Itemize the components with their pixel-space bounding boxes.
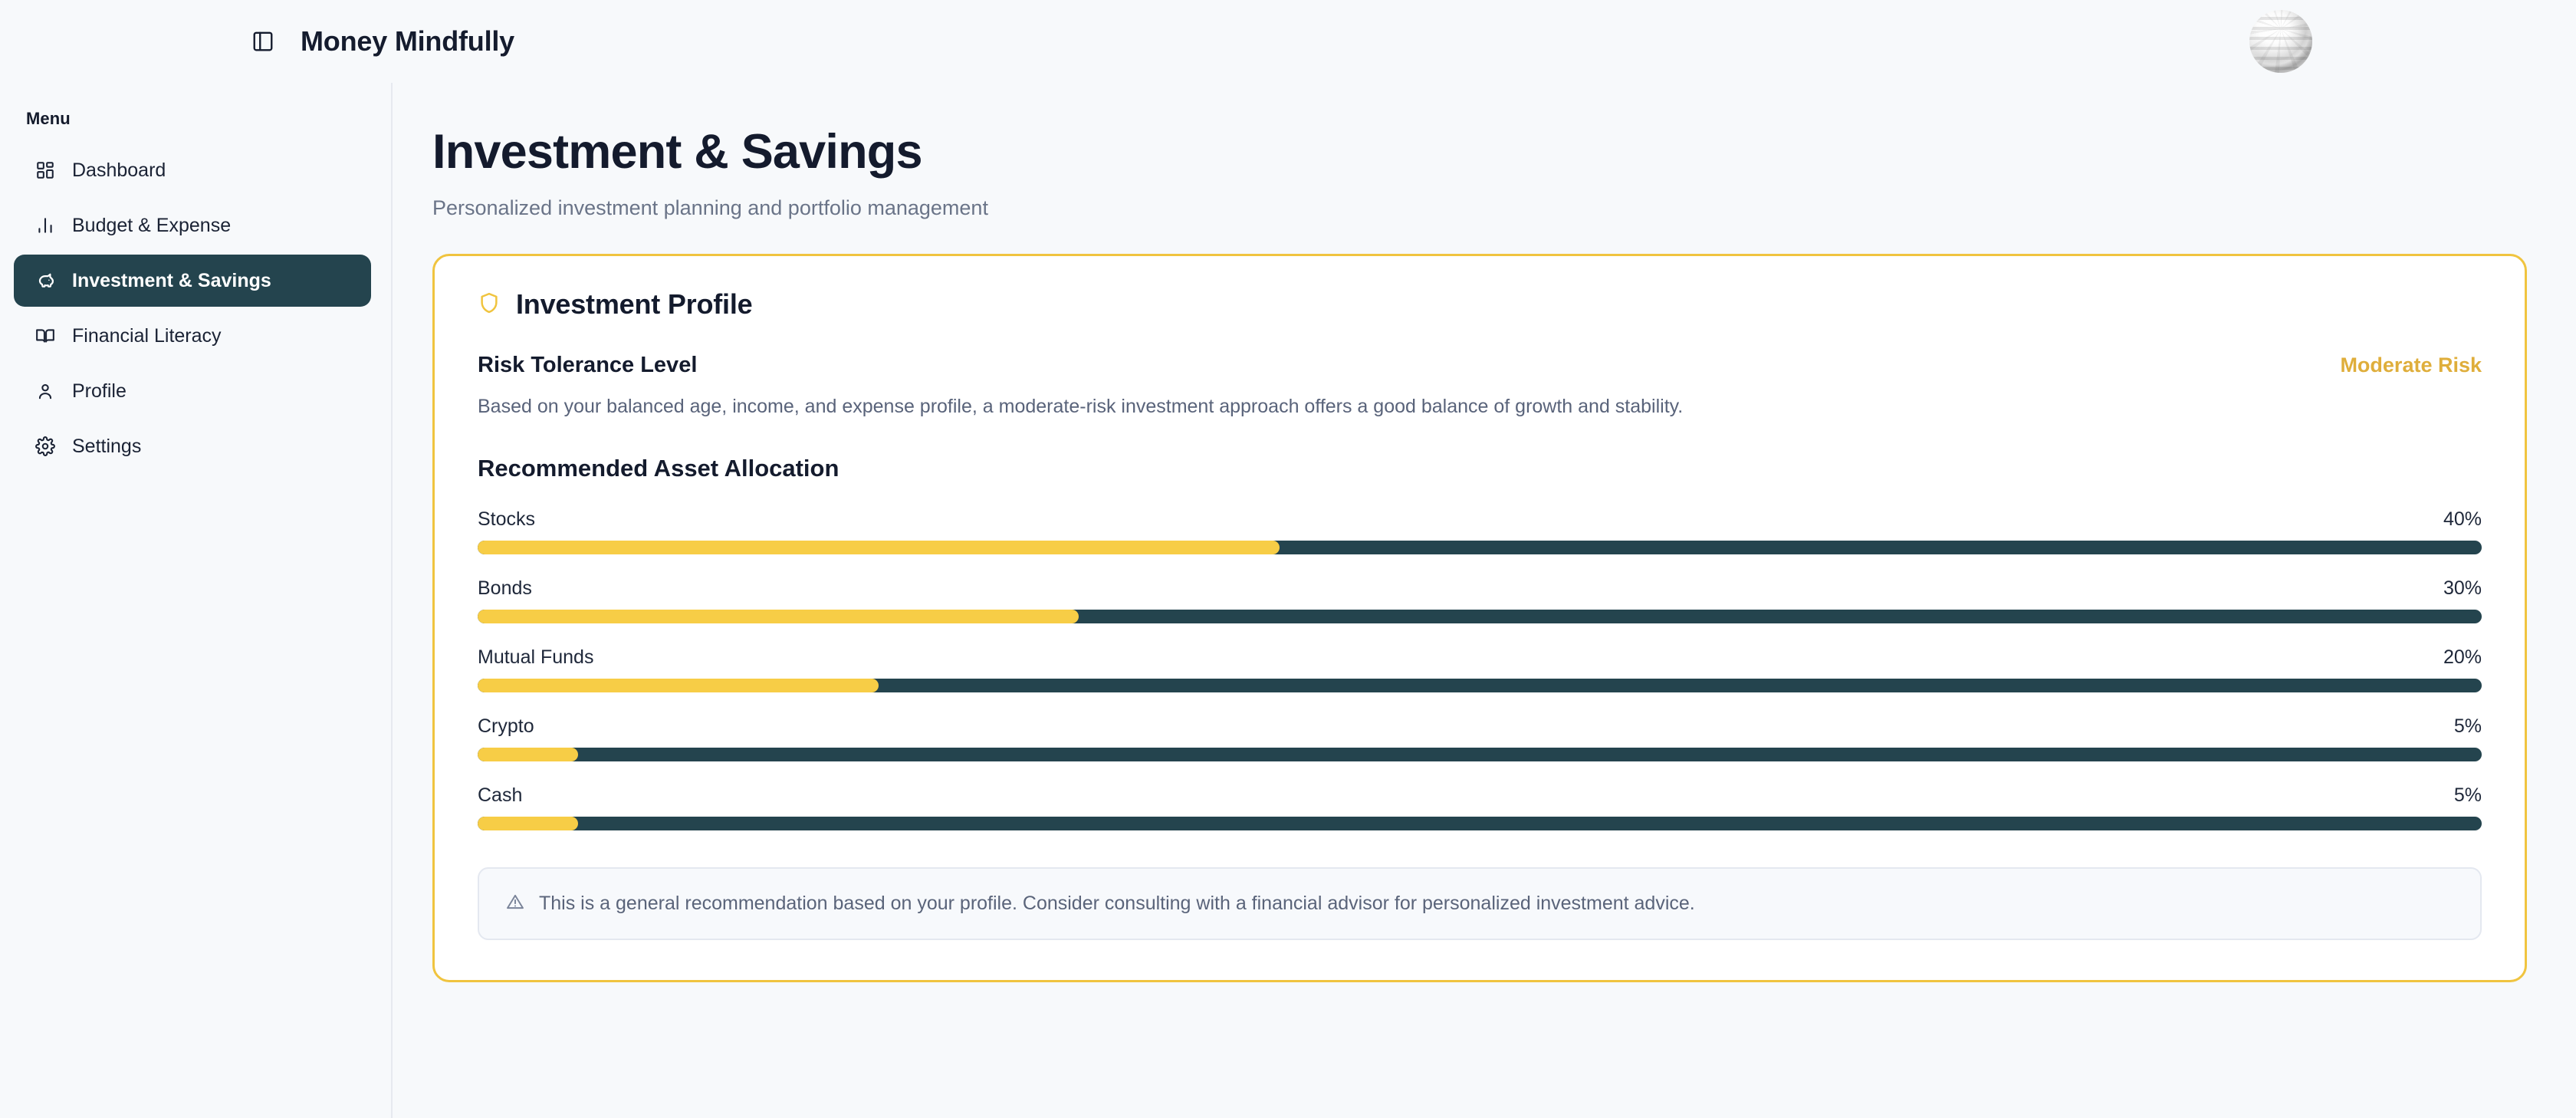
- disclaimer-text: This is a general recommendation based o…: [539, 893, 1695, 915]
- progress-fill: [478, 679, 879, 692]
- progress-fill: [478, 817, 578, 830]
- page-subtitle: Personalized investment planning and por…: [432, 196, 2527, 220]
- sidebar-item-profile[interactable]: Profile: [14, 365, 371, 417]
- allocation-row: Cash 5%: [478, 784, 2482, 830]
- allocation-label: Cash: [478, 784, 522, 807]
- app-header: Money Mindfully: [0, 0, 2576, 83]
- app-title: Money Mindfully: [301, 25, 514, 58]
- allocation-row-header: Bonds 30%: [478, 577, 2482, 600]
- sidebar-item-label: Investment & Savings: [72, 270, 271, 292]
- progress-track: [478, 541, 2482, 554]
- allocation-label: Bonds: [478, 577, 532, 600]
- avatar[interactable]: [2249, 10, 2312, 73]
- progress-track: [478, 817, 2482, 830]
- risk-description: Based on your balanced age, income, and …: [478, 396, 2482, 418]
- sidebar-toggle-icon[interactable]: [245, 24, 281, 59]
- sidebar-item-investment-savings[interactable]: Investment & Savings: [14, 255, 371, 307]
- warning-triangle-icon: [505, 892, 525, 916]
- open-book-icon: [32, 323, 58, 349]
- allocation-label: Mutual Funds: [478, 646, 593, 669]
- allocation-bars: Stocks 40% Bonds 30%: [478, 508, 2482, 830]
- user-icon: [32, 378, 58, 404]
- progress-fill: [478, 610, 1079, 623]
- allocation-title: Recommended Asset Allocation: [478, 455, 2482, 482]
- allocation-row-header: Stocks 40%: [478, 508, 2482, 531]
- main-content: Investment & Savings Personalized invest…: [393, 83, 2576, 1118]
- allocation-value: 40%: [2443, 508, 2482, 531]
- allocation-value: 30%: [2443, 577, 2482, 600]
- app-root: Money Mindfully Menu Dashboard: [0, 0, 2576, 1118]
- investment-profile-card: Investment Profile Risk Tolerance Level …: [432, 254, 2527, 982]
- gear-icon: [32, 433, 58, 459]
- disclaimer-note: This is a general recommendation based o…: [478, 867, 2482, 940]
- shield-icon: [478, 291, 501, 319]
- sidebar-item-label: Dashboard: [72, 159, 166, 182]
- sidebar-item-dashboard[interactable]: Dashboard: [14, 144, 371, 196]
- sidebar-item-label: Budget & Expense: [72, 215, 231, 237]
- sidebar-item-financial-literacy[interactable]: Financial Literacy: [14, 310, 371, 362]
- allocation-row-header: Cash 5%: [478, 784, 2482, 807]
- progress-fill: [478, 748, 578, 761]
- status-badge: Moderate Risk: [2340, 353, 2482, 377]
- allocation-row: Stocks 40%: [478, 508, 2482, 554]
- allocation-row: Crypto 5%: [478, 715, 2482, 761]
- sidebar-section-label: Menu: [0, 98, 391, 141]
- progress-track: [478, 610, 2482, 623]
- allocation-row-header: Mutual Funds 20%: [478, 646, 2482, 669]
- body-row: Menu Dashboard Budget & Expense: [0, 83, 2576, 1118]
- card-header: Investment Profile: [478, 288, 2482, 321]
- allocation-label: Crypto: [478, 715, 534, 738]
- allocation-row: Mutual Funds 20%: [478, 646, 2482, 692]
- progress-fill: [478, 541, 1280, 554]
- sidebar: Menu Dashboard Budget & Expense: [0, 83, 393, 1118]
- progress-track: [478, 748, 2482, 761]
- allocation-row-header: Crypto 5%: [478, 715, 2482, 738]
- grid-icon: [32, 157, 58, 183]
- sidebar-item-label: Settings: [72, 436, 141, 458]
- risk-tolerance-label: Risk Tolerance Level: [478, 353, 697, 378]
- progress-track: [478, 679, 2482, 692]
- page-title: Investment & Savings: [432, 127, 2527, 176]
- allocation-value: 5%: [2454, 784, 2482, 807]
- allocation-row: Bonds 30%: [478, 577, 2482, 623]
- piggy-bank-icon: [32, 268, 58, 294]
- allocation-value: 5%: [2454, 715, 2482, 738]
- sidebar-item-budget-expense[interactable]: Budget & Expense: [14, 199, 371, 252]
- allocation-label: Stocks: [478, 508, 535, 531]
- card-title: Investment Profile: [516, 288, 752, 321]
- allocation-value: 20%: [2443, 646, 2482, 669]
- sidebar-item-label: Financial Literacy: [72, 325, 222, 347]
- sidebar-item-settings[interactable]: Settings: [14, 420, 371, 472]
- risk-tolerance-row: Risk Tolerance Level Moderate Risk: [478, 353, 2482, 378]
- bar-chart-icon: [32, 212, 58, 238]
- sidebar-item-label: Profile: [72, 380, 127, 403]
